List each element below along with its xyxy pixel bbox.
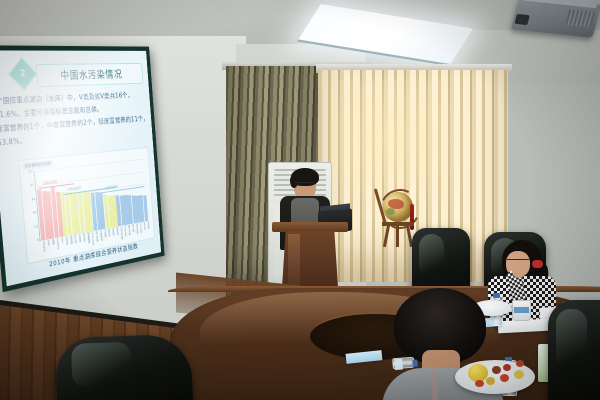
paper-cup[interactable] [512, 300, 531, 321]
slide-number-text: 2 [13, 63, 33, 85]
fruit-piece [514, 370, 524, 379]
bottle-cap [493, 293, 500, 298]
fruit-piece [500, 374, 509, 382]
chart-y-tick: 80 [23, 183, 34, 188]
chair-sheen [71, 342, 132, 388]
conference-room-photo: 2 中国水污染情况 26个国控重点湖泊（水库）中，Ⅴ类及劣Ⅴ类共16个， 占61… [0, 0, 600, 400]
projector-lens-icon [514, 14, 530, 25]
cup-band [514, 307, 529, 313]
attendee-hair-tie [532, 260, 543, 268]
projector-top [523, 0, 599, 8]
globe-leg [396, 225, 399, 247]
chart-y-tick: 100 [22, 169, 33, 174]
chart-y-tick: 40 [25, 211, 36, 216]
fruit-piece [486, 377, 495, 385]
fruit-piece [492, 366, 501, 374]
screen-surface: 2 中国水污染情况 26个国控重点湖泊（水库）中，Ⅴ类及劣Ⅴ类共16个， 占61… [0, 50, 161, 286]
bottle-cap [412, 360, 417, 367]
globe-tassel [410, 204, 414, 230]
slide-number-badge: 2 [8, 57, 37, 90]
slide-title: 中国水污染情况 [36, 63, 144, 87]
projection-screen[interactable]: 2 中国水污染情况 26个国控重点湖泊（水库）中，Ⅴ类及劣Ⅴ类共16个， 占61… [0, 45, 165, 292]
chart-x-tick: 百花湖 [146, 221, 150, 235]
attendee-hand [512, 264, 526, 278]
chart-y-tick: 0 [28, 238, 39, 244]
fruit-piece [475, 380, 484, 387]
projector-vent [565, 9, 595, 27]
chair-foreground-right[interactable] [548, 300, 600, 400]
slide-body-text: 26个国控重点湖泊（水库）中，Ⅴ类及劣Ⅴ类共16个， 占61.6%。主要污染指标… [0, 89, 149, 151]
podium-top [272, 222, 348, 232]
presentation-slide: 2 中国水污染情况 26个国控重点湖泊（水库）中，Ⅴ类及劣Ⅴ类共16个， 占61… [0, 50, 161, 286]
bottle-label [394, 359, 403, 371]
chart-y-tick: 20 [27, 224, 38, 230]
chair-sheen [556, 309, 587, 375]
foreground-strap [432, 370, 438, 400]
fruit-piece [503, 364, 511, 371]
globe-leg [383, 225, 390, 247]
chair-sheen [419, 234, 445, 280]
chair-foreground-left[interactable] [55, 334, 193, 400]
presenter-glasses-icon [295, 182, 314, 187]
fruit-piece [516, 360, 524, 367]
water-bottle[interactable] [392, 357, 415, 370]
chart-bar [143, 195, 148, 221]
chart-y-tick: 60 [24, 197, 35, 202]
